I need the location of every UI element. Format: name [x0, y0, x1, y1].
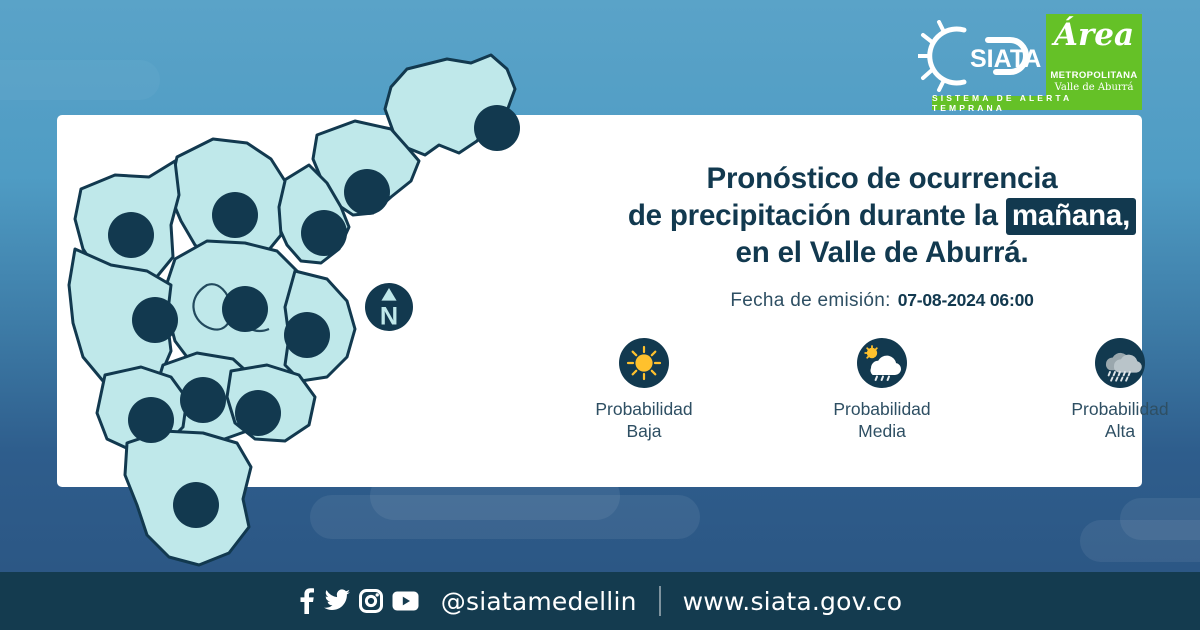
legend-label-baja: Probabilidad Baja [579, 398, 709, 444]
headline-line-1: Pronóstico de ocurrencia [577, 161, 1187, 198]
legend-badge-baja [619, 338, 669, 388]
twitter-icon[interactable] [324, 589, 350, 613]
legend-label-alta-line2: Alta [1055, 420, 1185, 443]
social-handle[interactable]: @siatamedellin [441, 587, 637, 616]
map-regions [55, 35, 525, 575]
legend-label-alta: Probabilidad Alta [1055, 398, 1185, 444]
legend-label-baja-line2: Baja [579, 420, 709, 443]
issue-date-value: 07-08-2024 06:00 [898, 290, 1034, 311]
marker-disc [180, 377, 226, 423]
instagram-icon[interactable] [359, 589, 383, 613]
map-marker-bello [212, 192, 258, 238]
footer-divider [659, 586, 661, 616]
youtube-icon[interactable] [392, 591, 419, 611]
marker-disc [284, 312, 330, 358]
map-marker-san-pedro [108, 212, 154, 258]
marker-disc [108, 212, 154, 258]
map-marker-sabaneta [235, 390, 281, 436]
issue-date-row: Fecha de emisión: 07-08-2024 06:00 [577, 290, 1187, 312]
legend-badge-media [857, 338, 907, 388]
marker-disc [344, 169, 390, 215]
map-marker-copacabana [301, 210, 347, 256]
compass-rose: N [365, 283, 413, 331]
map-marker-caldas [173, 482, 219, 528]
legend-item-alta: Probabilidad Alta [1055, 338, 1185, 444]
marker-disc [222, 286, 268, 332]
legend-label-baja-line1: Probabilidad [579, 398, 709, 421]
legend-label-media-line1: Probabilidad [817, 398, 947, 421]
siata-logo: SIATA [918, 20, 1046, 92]
map-marker-medellin [222, 286, 268, 332]
legend-label-media-line2: Media [817, 420, 947, 443]
background-cloud-4 [1120, 498, 1200, 540]
sun-cloud-rain-icon [857, 338, 907, 388]
map-marker-envigado [284, 312, 330, 358]
headline-line-2: de precipitación durante la mañana, [577, 198, 1187, 235]
marker-disc [301, 210, 347, 256]
marker-disc [173, 482, 219, 528]
compass-label: N [380, 303, 398, 331]
legend-item-baja: Probabilidad Baja [579, 338, 709, 444]
map-marker-barbosa [474, 105, 520, 151]
marker-disc [235, 390, 281, 436]
sun-icon [619, 338, 669, 388]
legend-item-media: Probabilidad Media [817, 338, 947, 444]
area-metropolitana-label: METROPOLITANA [1050, 71, 1137, 82]
svg-text:SIATA: SIATA [970, 45, 1041, 73]
siata-tagline: SISTEMA DE ALERTA TEMPRANA [932, 96, 1142, 110]
map-marker-san-jeronimo [132, 297, 178, 343]
area-metropolitana-logo: Área METROPOLITANA Valle de Aburrá [1046, 14, 1142, 98]
marker-disc [212, 192, 258, 238]
marker-disc [474, 105, 520, 151]
area-script-text: Área [1046, 20, 1142, 51]
social-links[interactable] [298, 588, 419, 614]
website-link[interactable]: www.siata.gov.co [683, 587, 903, 616]
content-column: Pronóstico de ocurrencia de precipitació… [577, 161, 1187, 443]
logo-block: SIATA Área METROPOLITANA Valle de Aburrá… [918, 14, 1142, 110]
issue-date-label: Fecha de emisión: [730, 290, 890, 312]
map-marker-girardota [344, 169, 390, 215]
page-title: Pronóstico de ocurrencia de precipitació… [577, 161, 1187, 272]
probability-legend: Probabilidad Baja [577, 338, 1187, 444]
cloud-rain-icon [1095, 338, 1145, 388]
facebook-icon[interactable] [298, 588, 315, 614]
valle-de-aburra-map: N [55, 35, 525, 575]
legend-label-media: Probabilidad Media [817, 398, 947, 444]
marker-disc [132, 297, 178, 343]
headline-line-2-text: de precipitación durante la [628, 199, 998, 232]
headline-line-3: en el Valle de Aburrá. [577, 235, 1187, 272]
headline-highlight: mañana, [1006, 198, 1136, 235]
legend-badge-alta [1095, 338, 1145, 388]
area-valle-label: Valle de Aburrá [1055, 82, 1134, 94]
footer-bar: @siatamedellin www.siata.gov.co [0, 572, 1200, 630]
marker-disc [128, 397, 174, 443]
map-marker-la-estrella [128, 397, 174, 443]
legend-label-alta-line1: Probabilidad [1055, 398, 1185, 421]
map-marker-itagui [180, 377, 226, 423]
compass-needle-icon: N [365, 283, 413, 331]
